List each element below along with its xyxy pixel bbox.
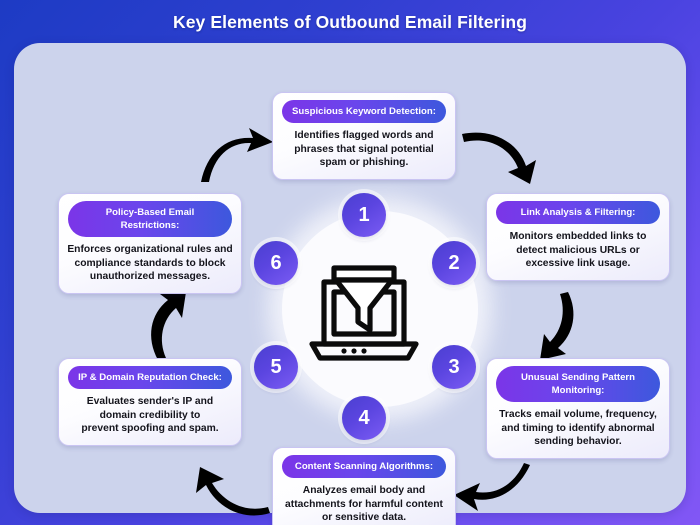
step-number-3[interactable]: 3 [432, 345, 476, 389]
step-number-6[interactable]: 6 [254, 241, 298, 285]
arrow-right1-to-right2-icon [522, 290, 584, 362]
page-title: Key Elements of Outbound Email Filtering [0, 12, 700, 33]
arrow-left-to-top-icon [197, 126, 277, 184]
step-card-1-heading: Suspicious Keyword Detection: [282, 100, 446, 123]
arrow-top-to-right1-icon [460, 126, 540, 184]
step-card-4[interactable]: Content Scanning Algorithms: Analyzes em… [272, 447, 456, 525]
step-card-6[interactable]: Policy-Based Email Restrictions: Enforce… [58, 193, 242, 294]
step-card-3[interactable]: Unusual Sending Pattern Monitoring: Trac… [486, 358, 670, 459]
laptop-funnel-icon [302, 248, 426, 372]
step-card-4-body: Analyzes email body and attachments for … [279, 478, 449, 525]
step-number-5[interactable]: 5 [254, 345, 298, 389]
step-card-2[interactable]: Link Analysis & Filtering: Monitors embe… [486, 193, 670, 281]
step-card-2-body: Monitors embedded links to detect malici… [493, 224, 663, 271]
step-card-5[interactable]: IP & Domain Reputation Check: Evaluates … [58, 358, 242, 446]
arrow-bottom-to-left2-icon [192, 463, 272, 521]
arrow-left2-to-left1-icon [142, 290, 204, 362]
step-card-4-heading: Content Scanning Algorithms: [282, 455, 446, 478]
infographic-poster: Key Elements of Outbound Email Filtering [0, 0, 700, 525]
step-number-4[interactable]: 4 [342, 396, 386, 440]
step-card-1-body: Identifies flagged words and phrases tha… [279, 123, 449, 170]
arrow-right2-to-bottom-icon [452, 461, 532, 519]
step-card-5-body: Evaluates sender's IP and domain credibi… [65, 389, 235, 436]
step-card-3-heading: Unusual Sending Pattern Monitoring: [496, 366, 660, 402]
step-card-3-body: Tracks email volume, frequency, and timi… [493, 402, 663, 449]
step-card-6-body: Enforces organizational rules and compli… [65, 237, 235, 284]
step-card-6-heading: Policy-Based Email Restrictions: [68, 201, 232, 237]
step-number-2[interactable]: 2 [432, 241, 476, 285]
step-card-2-heading: Link Analysis & Filtering: [496, 201, 660, 224]
step-card-1[interactable]: Suspicious Keyword Detection: Identifies… [272, 92, 456, 180]
step-number-1[interactable]: 1 [342, 193, 386, 237]
step-card-5-heading: IP & Domain Reputation Check: [68, 366, 232, 389]
content-panel: Suspicious Keyword Detection: Identifies… [14, 43, 686, 513]
